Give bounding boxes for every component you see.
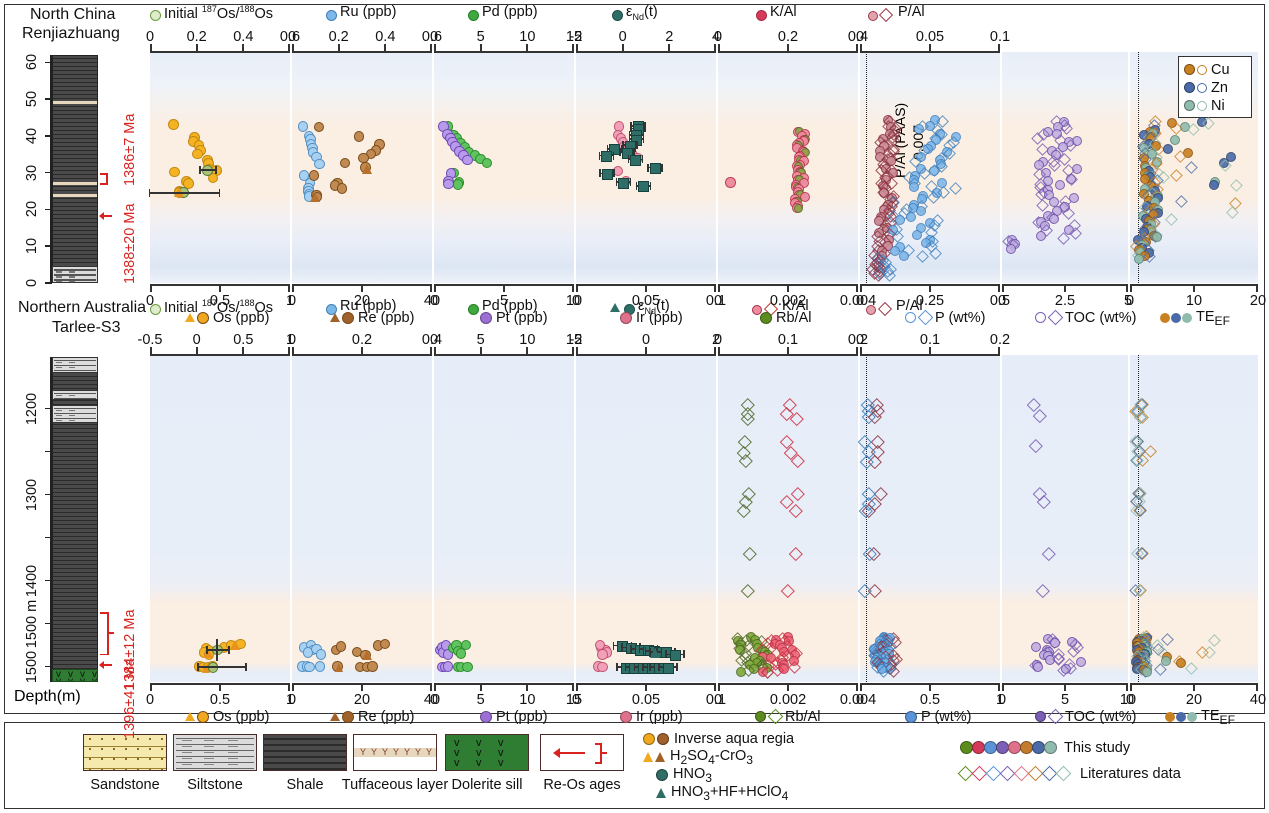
shale-line [264, 762, 346, 764]
axis-tick [150, 347, 152, 354]
legend-label-rb-al: Rb/Al [776, 310, 811, 326]
axis-tick [572, 684, 574, 691]
legend-marker-te-ef-icon [1160, 309, 1192, 327]
axis-tick [787, 44, 789, 51]
legend-item-nc-bottom-4: Rb/Al [760, 309, 811, 327]
shale-line [53, 656, 97, 657]
data-point-re-au [367, 661, 377, 671]
sandstone-dot [149, 748, 151, 750]
legend-item-nc-bottom-7: TEEF [1160, 309, 1230, 327]
shale-line [53, 452, 97, 453]
digestion-legend-label-3: HNO3+HF+HClO4 [671, 784, 788, 800]
shale-line [53, 600, 97, 601]
depth-tick-label-nc: 20 [24, 201, 40, 217]
age-bracket-au-1d [109, 632, 114, 634]
shale-line [53, 142, 97, 143]
data-point-end-tri-au [650, 648, 660, 658]
siltstone-dash [228, 758, 238, 759]
axis-tick-label: -2 [570, 332, 583, 348]
data-point-p-nc [929, 166, 939, 176]
paas-threshold-line [866, 52, 867, 283]
sandstone-dot [137, 758, 139, 760]
data-point-re-tri-au [362, 650, 372, 660]
axis-tick [929, 684, 931, 691]
legend-label-re--ppb-: Re (ppb) [358, 310, 414, 326]
depth-tick-label-au: 1400 [24, 564, 40, 596]
depth-tick-label-nc: 0 [24, 279, 40, 287]
error-bar-cap [619, 148, 621, 156]
source-legend-item-filled: This study [960, 739, 1130, 759]
shale-line [53, 476, 97, 477]
age-bracket-au-1c [100, 654, 109, 656]
siltstone-dash [204, 740, 214, 741]
shale-line [53, 170, 97, 171]
age-bracket-nc-1c [100, 183, 108, 185]
legend-item-au-bottom-3: Ir (ppb) [620, 708, 683, 726]
shale-line [53, 130, 97, 131]
depth-tick-label-au: 1300 [24, 478, 40, 510]
axis-tick-label: 2 [665, 29, 673, 45]
axis-tick-label: 0.25 [916, 293, 944, 309]
axis-line [150, 354, 290, 356]
shale-line [53, 628, 97, 629]
data-point-re-nc [309, 170, 319, 180]
source-open-diamond-icon [1028, 766, 1044, 782]
legend-item-nc-bottom-6: TOC (wt%) [1035, 309, 1136, 327]
age-arrow-head-au-2 [99, 661, 104, 669]
age-arrow-head-nc-2 [99, 212, 104, 220]
legend-item-au-bottom-6: TOC (wt%) [1035, 708, 1136, 726]
axis-tick-label: 0.2 [778, 29, 798, 45]
shale-line [53, 78, 97, 79]
data-point-te-nc [1134, 254, 1144, 264]
shale-line [53, 652, 97, 653]
digestion-legend-label-2: HNO3 [673, 766, 712, 782]
axis-tick [787, 684, 789, 691]
shale-line [53, 190, 97, 191]
data-point-re-au [336, 641, 346, 651]
error-bar-cap [647, 164, 649, 172]
re-os-arrow-head [553, 748, 560, 758]
axis-tick [430, 44, 432, 51]
strat-tuff-nc-3 [53, 194, 97, 197]
axis-tick [714, 285, 716, 292]
legend-label-pd: Pd (ppb) [482, 4, 538, 20]
legend-label-pt--ppb-: Pt (ppb) [496, 310, 548, 326]
axis-line [292, 51, 432, 53]
lithology-swatch-tuff: YYYYYYY [353, 734, 437, 771]
source-open-diamond-icon [958, 766, 974, 782]
shale-line [53, 166, 97, 167]
axis-tick [998, 44, 1000, 51]
sandstone-dot [101, 738, 103, 740]
digestion-legend-item-3: HNO3+HF+HClO4 [643, 784, 788, 801]
siltstone-dash [204, 752, 214, 753]
strat-column-north-china [52, 55, 98, 283]
data-point-initial-os-nc [169, 167, 180, 178]
error-bar-cap [636, 182, 638, 190]
data-point-te-au [1176, 658, 1186, 668]
axis-tick [998, 347, 1000, 354]
axis-tick [480, 684, 482, 691]
plot-panel-au-0 [150, 355, 290, 682]
digestion-legend-item-2: HNO3 [643, 766, 712, 783]
silt-dash [69, 276, 75, 277]
shale-line [53, 632, 97, 633]
shale-line [53, 508, 97, 509]
digestion-legend-item-0: Inverse aqua regia [643, 730, 794, 747]
pal-diamond-marker-icon-au [878, 302, 892, 316]
axis-tick [714, 44, 716, 51]
plot-panel-au-6 [1002, 355, 1128, 682]
te-legend-open-cu-icon [1197, 65, 1207, 75]
data-point-p-nc [912, 230, 922, 240]
axis-tick-label: 5 [500, 293, 508, 309]
data-point-toc-au [1076, 657, 1086, 667]
data-point-ir-au [595, 640, 605, 650]
silt-dash [56, 362, 62, 363]
axis-tick-label: 0.002 [770, 692, 806, 708]
strat-tuff-nc-1 [53, 101, 97, 104]
legend-marker-p--wt---icon [905, 309, 931, 327]
legend-marker-re--ppb--icon [330, 309, 354, 327]
shale-line [264, 768, 346, 770]
tuff-glyph: Y [426, 748, 432, 757]
error-bar-cap [228, 646, 230, 654]
shale-line [53, 206, 97, 207]
shale-line [53, 612, 97, 613]
digestion-triangle-icon [643, 752, 653, 762]
depth-tick-au [45, 623, 52, 625]
axis-tick-label: 5 [477, 29, 485, 45]
data-point-te-nc [1163, 144, 1173, 154]
te-legend-item-zn: Zn [1184, 79, 1228, 95]
axis-tick-label: 0.4 [375, 29, 395, 45]
axis-tick [718, 44, 720, 51]
shale-line [53, 424, 97, 425]
tuff-glyph: Y [404, 748, 410, 757]
axis-tick-label: 0.5 [210, 293, 230, 309]
silt-dash [56, 367, 62, 368]
plot-panel-au-1 [292, 355, 432, 682]
error-bar-cap [616, 178, 618, 186]
sandstone-dot [161, 738, 163, 740]
ru-marker-icon [326, 10, 337, 21]
shale-line [53, 660, 97, 661]
axis-tick [1064, 285, 1066, 292]
axis-tick-label: 0.05 [916, 29, 944, 45]
error-bar-cap [649, 663, 651, 671]
error-bar-cap [625, 663, 627, 671]
error-bar-initial-os-au-2 [197, 666, 245, 668]
axis-tick [856, 44, 858, 51]
digestion-legend-label-1: H2SO4-CrO3 [670, 748, 753, 764]
error-bar-cap [599, 169, 601, 177]
legend-item-au-bottom-4: Rb/Al [755, 708, 820, 726]
axis-tick-label: -0.5 [138, 332, 163, 348]
shale-line [53, 460, 97, 461]
axis-tick [1126, 684, 1128, 691]
shale-line [53, 616, 97, 617]
axis-tick [645, 285, 647, 292]
data-point-kal-nc [725, 177, 735, 187]
legend-item-au-bottom-7: TEEF [1165, 708, 1235, 726]
data-point-toc-nc [1049, 197, 1059, 207]
source-legend-item-open: Literatures data [960, 765, 1181, 785]
shale-line [53, 114, 97, 115]
depth-tick-label-nc: 10 [24, 238, 40, 254]
lithology-label-dolerite: Dolerite sill [452, 777, 523, 793]
shale-line [53, 644, 97, 645]
te-legend-box: CuZnNi [1178, 56, 1252, 118]
digestion-legend-label-0: Inverse aqua regia [674, 731, 794, 747]
depth-tick-nc [45, 135, 52, 137]
axis-tick-label: 0.1 [990, 29, 1010, 45]
sandstone-dot [149, 738, 151, 740]
error-bar-cap [676, 663, 678, 671]
plot-panel-au-3 [576, 355, 716, 682]
sandstone-dot [113, 748, 115, 750]
depth-tick-nc [45, 245, 52, 247]
axis-tick-label: 10 [519, 29, 535, 45]
shale-line [53, 134, 97, 135]
shale-line [53, 576, 97, 577]
siltstone-dash [182, 740, 192, 741]
error-bar-cap [215, 166, 217, 174]
axis-tick-label: 0 [998, 692, 1006, 708]
axis-tick-label: 40 [1250, 692, 1266, 708]
axis-tick [480, 44, 482, 51]
error-bar-cap [683, 650, 685, 658]
strat-siltstone-nc [52, 266, 98, 283]
shale-line [53, 500, 97, 501]
axis-tick-label: 20 [354, 293, 370, 309]
sandstone-dot [113, 758, 115, 760]
legend-marker-pt--ppb--icon [480, 309, 492, 327]
digestion-circle-icon [656, 769, 668, 781]
sandstone-dot [161, 758, 163, 760]
axis-tick-label: 0 [193, 332, 201, 348]
data-point-rbal-au [736, 667, 746, 677]
shale-line [53, 234, 97, 235]
sandstone-dot [125, 758, 127, 760]
shale-line [53, 496, 97, 497]
depth-tick-au [45, 494, 52, 496]
sandstone-line [84, 746, 166, 747]
axis-tick-label: 0 [430, 293, 438, 309]
data-point-pt-nc [443, 179, 453, 189]
shale-line [53, 158, 97, 159]
axis-tick [434, 285, 436, 292]
data-point-end-nc [630, 155, 641, 166]
axis-tick-label: 5 [477, 692, 485, 708]
depth-tick-au [45, 666, 52, 668]
region-label-australia-line2: Tarlee-S3 [52, 319, 120, 337]
shale-line [53, 464, 97, 465]
shale-line [53, 588, 97, 589]
shale-line [53, 138, 97, 139]
error-bar-cap [658, 663, 660, 671]
silt-dash [69, 395, 75, 396]
axis-tick-label: 0 [288, 332, 296, 348]
axis-tick [503, 285, 505, 292]
siltstone-dash [182, 758, 192, 759]
tuff-glyph: Y [382, 748, 388, 757]
shale-line [53, 238, 97, 239]
axis-tick-label: 0.5 [920, 692, 940, 708]
axis-tick [1256, 285, 1258, 292]
tuff-glyph: Y [415, 748, 421, 757]
depth-tick-nc [45, 62, 52, 64]
axis-tick-label: 0 [430, 332, 438, 348]
legend-label-ir--ppb-: Ir (ppb) [636, 310, 683, 326]
shale-line [53, 512, 97, 513]
axis-tick [361, 347, 363, 354]
error-bar-cap [642, 155, 644, 163]
axis-tick [1193, 684, 1195, 691]
legend-marker-te-ef-icon-au [1165, 708, 1197, 726]
lithology-label-siltstone: Siltstone [187, 777, 243, 793]
axis-tick-label: 10 [1186, 293, 1202, 309]
silt-dash [69, 410, 75, 411]
data-point-pd-nc [453, 179, 463, 189]
axis-tick [576, 684, 578, 691]
data-point-ru-au [316, 649, 326, 659]
axis-tick [856, 285, 858, 292]
axis-tick [714, 347, 716, 354]
axis-tick [860, 684, 862, 691]
axis-tick [645, 347, 647, 354]
axis-tick-label: 0.2 [352, 332, 372, 348]
data-point-end-au [670, 650, 681, 661]
plot-panel-au-2 [434, 355, 574, 682]
axis-tick [856, 684, 858, 691]
legend-label-pal: P/Al [898, 4, 925, 20]
plot-panel-nc-3 [576, 52, 716, 283]
shale-line [53, 524, 97, 525]
axis-tick [288, 684, 290, 691]
te-legend-filled-ni-icon [1184, 100, 1195, 111]
axis-tick [150, 684, 152, 691]
legend-marker-rb-al-icon [760, 309, 772, 327]
depth-tick-label-nc: 60 [24, 54, 40, 70]
shale-line [53, 58, 97, 59]
data-point-initial-os-tri-au [230, 640, 240, 650]
axis-tick-label: 0 [714, 332, 722, 348]
sandstone-dot [125, 748, 127, 750]
axis-tick [1193, 285, 1195, 292]
error-bar-cap [613, 152, 615, 160]
axis-tick-label: 0 [1126, 293, 1134, 309]
shale-line [53, 568, 97, 569]
shale-line [53, 444, 97, 445]
shale-line [53, 532, 97, 533]
depth-tick-label-nc: 40 [24, 128, 40, 144]
axis-tick-label: 0.2 [187, 29, 207, 45]
axis-tick-label: 0 [856, 332, 864, 348]
data-point-ru-au [315, 661, 325, 671]
source-open-diamond-icon [972, 766, 988, 782]
shale-line [53, 98, 97, 99]
depth-tick-au [45, 408, 52, 410]
shale-line [53, 186, 97, 187]
shale-line [53, 90, 97, 91]
error-bar-cap [642, 663, 644, 671]
shale-line [53, 246, 97, 247]
data-point-ir-au [597, 649, 607, 659]
shale-line [53, 70, 97, 71]
re-os-age-swatch [540, 734, 624, 771]
shale-line [53, 552, 97, 553]
data-point-end-nc [601, 151, 612, 162]
shale-line [53, 520, 97, 521]
data-point-te-nc [1209, 180, 1219, 190]
axis-tick-label: 20 [1186, 692, 1202, 708]
error-bar-cap [645, 647, 647, 655]
legend-item-au-bottom-5: P (wt%) [905, 708, 972, 726]
strat-siltstone-au-2 [52, 390, 98, 400]
axis-tick-label: -2 [570, 29, 583, 45]
te-legend-filled-zn-icon [1184, 82, 1195, 93]
sandstone-dot [89, 758, 91, 760]
depth-tick-au [45, 580, 52, 582]
shale-line [53, 380, 97, 381]
error-bar-cap [644, 124, 646, 132]
error-bar-cap [199, 166, 201, 174]
error-bar-cap [616, 663, 618, 671]
shale-line [53, 580, 97, 581]
siltstone-dash [228, 746, 238, 747]
shale-line [53, 556, 97, 557]
lithology-swatch-sandstone [83, 734, 167, 771]
axis-tick-label: 0 [146, 692, 154, 708]
te-legend-label-zn: Zn [1211, 80, 1228, 96]
sandstone-dot [113, 738, 115, 740]
error-bar-cap [643, 135, 645, 143]
axis-tick-label: 0 [619, 29, 627, 45]
axis-tick-label: 0 [288, 692, 296, 708]
axis-tick-label: 0.1 [920, 332, 940, 348]
age-label-nc-2: 1388±20 Ma [122, 203, 138, 284]
axis-tick [434, 347, 436, 354]
depth-tick-label-au: 1500 m [24, 599, 40, 647]
silt-dash [69, 367, 75, 368]
digestion-circle-icon [657, 733, 669, 745]
axis-tick [668, 44, 670, 51]
axis-tick [196, 44, 198, 51]
pal-circle-marker-icon [868, 11, 878, 21]
error-bar-cap [634, 663, 636, 671]
legend-label-re--ppb--au: Re (ppb) [358, 709, 414, 725]
te-legend-item-ni: Ni [1184, 97, 1225, 113]
siltstone-dash [228, 764, 238, 765]
axis-tick [787, 347, 789, 354]
legend-marker-toc--wt---icon [1035, 309, 1061, 327]
axis-tick-label: 0.2 [990, 332, 1010, 348]
te-legend-label-ni: Ni [1211, 98, 1225, 114]
axis-tick-label: 0 [642, 332, 650, 348]
shale-line [53, 146, 97, 147]
shale-line [53, 480, 97, 481]
source-open-diamond-icon [1014, 766, 1030, 782]
te-legend-item-cu: Cu [1184, 61, 1230, 77]
dolerite-v: v [92, 678, 97, 682]
error-bar-cap [219, 189, 221, 197]
axis-tick [526, 44, 528, 51]
legend-marker-re--ppb--icon-au [330, 708, 354, 726]
axis-tick [434, 684, 436, 691]
shale-line [264, 744, 346, 746]
